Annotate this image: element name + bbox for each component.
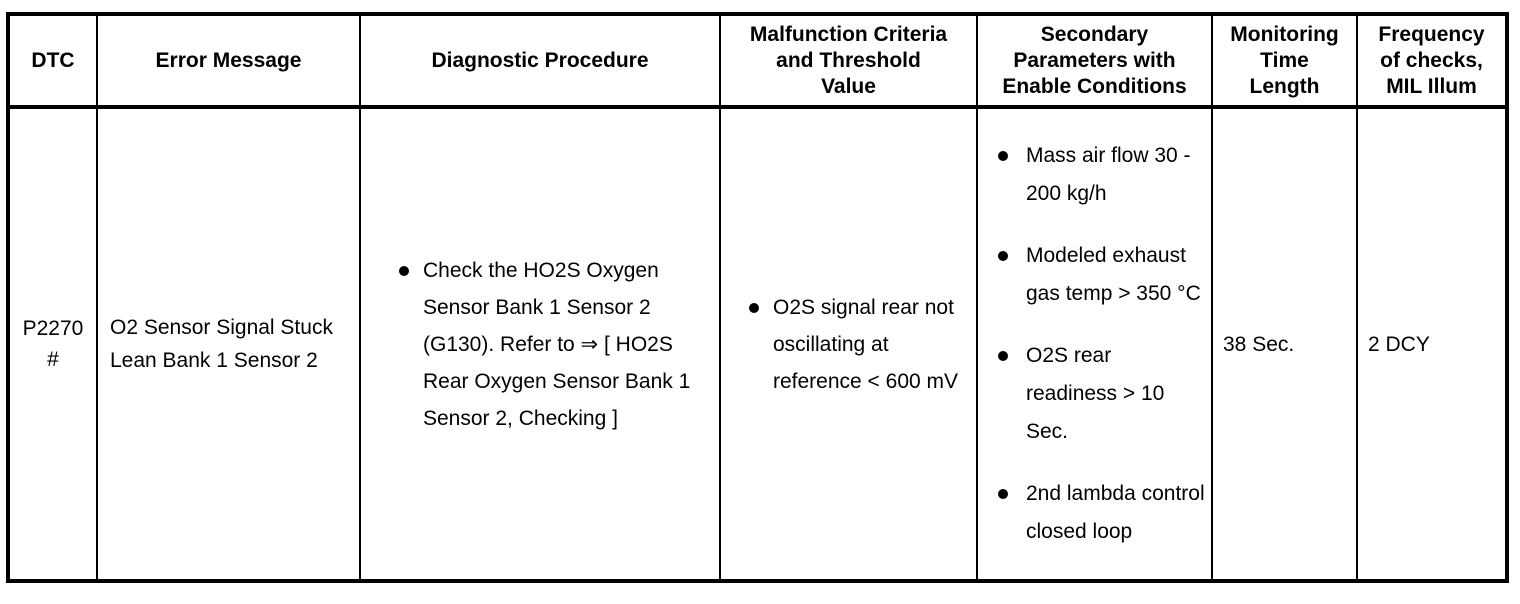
secondary-parameters-list: Mass air flow 30 - 200 kg/h Modeled exha… [992, 137, 1205, 551]
dtc-monitor-table: DTC Error Message Diagnostic Procedure M… [6, 12, 1509, 583]
table-row: P2270 # O2 Sensor Signal Stuck Lean Bank… [8, 107, 1507, 581]
table-header: DTC Error Message Diagnostic Procedure M… [8, 14, 1507, 107]
header-line: Frequency [1364, 22, 1499, 48]
secondary-parameter-text: O2S rear readiness > 10 Sec. [1026, 344, 1164, 443]
header-line: Secondary [984, 22, 1205, 48]
malfunction-criteria-wrap: O2S signal rear not oscillating at refer… [721, 289, 976, 400]
secondary-parameter-text: 2nd lambda control closed loop [1026, 482, 1205, 543]
secondary-parameter-text: Mass air flow 30 - 200 kg/h [1026, 144, 1191, 205]
list-item: Check the HO2S Oxygen Sensor Bank 1 Sens… [393, 252, 709, 437]
header-line: Parameters with [984, 48, 1205, 74]
column-header-dtc: DTC [8, 14, 97, 107]
header-line: of checks, [1364, 48, 1499, 74]
header-line: Time [1219, 48, 1350, 74]
cell-diagnostic-procedure: Check the HO2S Oxygen Sensor Bank 1 Sens… [360, 107, 720, 581]
header-line: MIL Illum [1364, 74, 1499, 100]
header-line: and Threshold [727, 48, 970, 74]
column-header-error-message: Error Message [97, 14, 360, 107]
monitoring-time-length-text: 38 Sec. [1223, 333, 1294, 356]
cell-secondary-parameters: Mass air flow 30 - 200 kg/h Modeled exha… [977, 107, 1212, 581]
diagnostic-procedure-wrap: Check the HO2S Oxygen Sensor Bank 1 Sens… [361, 252, 719, 437]
secondary-parameters-wrap: Mass air flow 30 - 200 kg/h Modeled exha… [978, 137, 1211, 551]
list-item: O2S signal rear not oscillating at refer… [743, 289, 966, 400]
diagnostic-procedure-list: Check the HO2S Oxygen Sensor Bank 1 Sens… [393, 252, 709, 437]
list-item: 2nd lambda control closed loop [992, 475, 1205, 551]
header-line: Error Message [104, 48, 353, 74]
header-line: Malfunction Criteria [727, 22, 970, 48]
table-body: P2270 # O2 Sensor Signal Stuck Lean Bank… [8, 107, 1507, 581]
malfunction-criteria-list: O2S signal rear not oscillating at refer… [743, 289, 966, 400]
header-line: DTC [16, 48, 90, 74]
secondary-parameter-text: Modeled exhaust gas temp > 350 °C [1026, 244, 1201, 305]
cell-malfunction-criteria: O2S signal rear not oscillating at refer… [720, 107, 977, 581]
header-line: Enable Conditions [984, 74, 1205, 100]
column-header-monitoring-time-length: Monitoring Time Length [1212, 14, 1357, 107]
column-header-malfunction-criteria: Malfunction Criteria and Threshold Value [720, 14, 977, 107]
dtc-marker: # [10, 344, 96, 375]
header-row: DTC Error Message Diagnostic Procedure M… [8, 14, 1507, 107]
header-line: Value [727, 74, 970, 100]
column-header-diagnostic-procedure: Diagnostic Procedure [360, 14, 720, 107]
cell-error-message: O2 Sensor Signal Stuck Lean Bank 1 Senso… [97, 107, 360, 581]
header-line: Diagnostic Procedure [367, 48, 713, 74]
dtc-code: P2270 [10, 313, 96, 344]
page-root: DTC Error Message Diagnostic Procedure M… [0, 0, 1520, 604]
header-line: Monitoring [1219, 22, 1350, 48]
error-message-text: O2 Sensor Signal Stuck Lean Bank 1 Senso… [110, 316, 333, 372]
cell-dtc: P2270 # [8, 107, 97, 581]
frequency-of-checks-text: 2 DCY [1368, 333, 1430, 356]
cell-monitoring-time-length: 38 Sec. [1212, 107, 1357, 581]
malfunction-criteria-text: O2S signal rear not oscillating at refer… [773, 296, 958, 393]
column-header-secondary-parameters: Secondary Parameters with Enable Conditi… [977, 14, 1212, 107]
cell-frequency-of-checks: 2 DCY [1357, 107, 1507, 581]
list-item: Modeled exhaust gas temp > 350 °C [992, 237, 1205, 313]
header-line: Length [1219, 74, 1350, 100]
diagnostic-procedure-text: Check the HO2S Oxygen Sensor Bank 1 Sens… [423, 259, 690, 430]
list-item: Mass air flow 30 - 200 kg/h [992, 137, 1205, 213]
list-item: O2S rear readiness > 10 Sec. [992, 337, 1205, 451]
column-header-frequency-of-checks: Frequency of checks, MIL Illum [1357, 14, 1507, 107]
